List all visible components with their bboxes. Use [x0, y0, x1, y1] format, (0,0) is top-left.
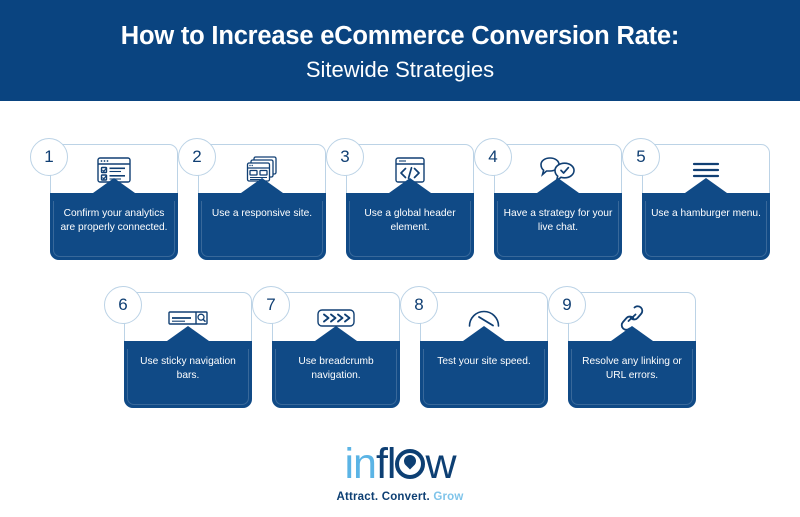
logo-o-droplet	[395, 449, 425, 479]
card-9-panel: Resolve any linking or URL errors.	[568, 341, 696, 408]
card-6-peak	[167, 326, 209, 341]
card-9-peak	[611, 326, 653, 341]
card-5[interactable]: Use a hamburger menu. 5	[622, 138, 770, 260]
card-8-peak	[463, 326, 505, 341]
card-6-number-badge: 6	[104, 286, 142, 324]
card-7-panel: Use breadcrumb navigation.	[272, 341, 400, 408]
card-8-body: Test your site speed.	[420, 292, 548, 408]
logo-text-w: w	[425, 443, 455, 486]
card-row-top: Confirm your analytics are properly conn…	[30, 138, 770, 260]
card-9-number-badge: 9	[548, 286, 586, 324]
header-banner: How to Increase eCommerce Conversion Rat…	[0, 0, 800, 101]
card-1-peak	[93, 178, 135, 193]
card-2[interactable]: Use a responsive site. 2	[178, 138, 326, 260]
card-3[interactable]: Use a global header element. 3	[326, 138, 474, 260]
tagline-attract-convert: Attract. Convert.	[336, 491, 430, 503]
card-3-label: Use a global header element.	[351, 207, 469, 236]
page-title-line-2: Sitewide Strategies	[306, 56, 494, 85]
inflow-logo: inflw	[344, 442, 455, 486]
tagline-grow: Grow	[433, 491, 463, 503]
card-5-body: Use a hamburger menu.	[642, 144, 770, 260]
card-4-body: Have a strategy for your live chat.	[494, 144, 622, 260]
card-7-label: Use breadcrumb navigation.	[277, 355, 395, 384]
card-7[interactable]: Use breadcrumb navigation. 7	[252, 286, 400, 408]
card-8-label: Test your site speed.	[425, 355, 543, 369]
card-4-panel: Have a strategy for your live chat.	[494, 193, 622, 260]
card-5-label: Use a hamburger menu.	[647, 207, 765, 221]
card-1-panel: Confirm your analytics are properly conn…	[50, 193, 178, 260]
card-row-bottom: Use sticky navigation bars. 6 Use breadc…	[104, 286, 696, 408]
card-2-body: Use a responsive site.	[198, 144, 326, 260]
page-title-line-1: How to Increase eCommerce Conversion Rat…	[121, 21, 679, 53]
card-8-number-badge: 8	[400, 286, 438, 324]
card-2-peak	[241, 178, 283, 193]
footer-logo-area: inflw Attract. Convert. Grow	[0, 442, 800, 503]
card-5-panel: Use a hamburger menu.	[642, 193, 770, 260]
card-9-label: Resolve any linking or URL errors.	[573, 355, 691, 384]
card-2-label: Use a responsive site.	[203, 207, 321, 221]
card-4[interactable]: Have a strategy for your live chat. 4	[474, 138, 622, 260]
logo-text-fl: fl	[376, 443, 396, 486]
card-3-number-badge: 3	[326, 138, 364, 176]
card-2-number-badge: 2	[178, 138, 216, 176]
card-6[interactable]: Use sticky navigation bars. 6	[104, 286, 252, 408]
card-1-label: Confirm your analytics are properly conn…	[55, 207, 173, 236]
card-8[interactable]: Test your site speed. 8	[400, 286, 548, 408]
card-4-number-badge: 4	[474, 138, 512, 176]
card-9[interactable]: Resolve any linking or URL errors. 9	[548, 286, 696, 408]
card-8-panel: Test your site speed.	[420, 341, 548, 408]
card-9-body: Resolve any linking or URL errors.	[568, 292, 696, 408]
card-2-panel: Use a responsive site.	[198, 193, 326, 260]
card-4-peak	[537, 178, 579, 193]
card-5-peak	[685, 178, 727, 193]
card-1-body: Confirm your analytics are properly conn…	[50, 144, 178, 260]
card-1-number-badge: 1	[30, 138, 68, 176]
card-3-panel: Use a global header element.	[346, 193, 474, 260]
logo-tagline: Attract. Convert. Grow	[336, 491, 463, 503]
card-5-number-badge: 5	[622, 138, 660, 176]
card-3-body: Use a global header element.	[346, 144, 474, 260]
card-7-body: Use breadcrumb navigation.	[272, 292, 400, 408]
card-4-label: Have a strategy for your live chat.	[499, 207, 617, 236]
card-7-peak	[315, 326, 357, 341]
logo-text-in: in	[344, 443, 375, 486]
card-6-body: Use sticky navigation bars.	[124, 292, 252, 408]
card-3-peak	[389, 178, 431, 193]
card-6-label: Use sticky navigation bars.	[129, 355, 247, 384]
card-7-number-badge: 7	[252, 286, 290, 324]
card-6-panel: Use sticky navigation bars.	[124, 341, 252, 408]
card-1[interactable]: Confirm your analytics are properly conn…	[30, 138, 178, 260]
